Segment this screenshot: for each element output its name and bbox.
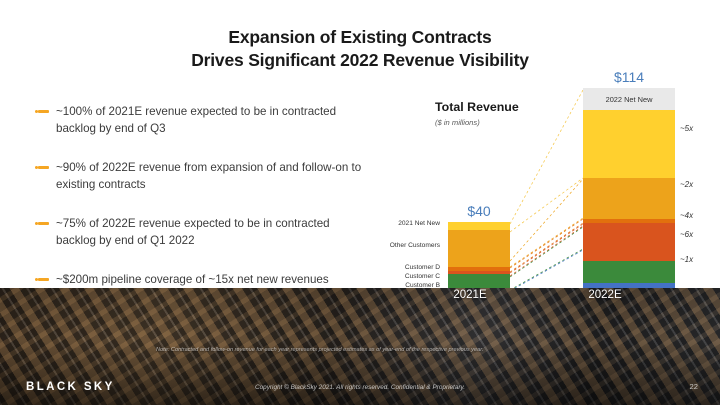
bullet-dash-icon xyxy=(38,166,49,169)
legend-label-customer-d: Customer D xyxy=(405,264,440,271)
growth-multiple-customer-b: ~1x xyxy=(680,255,720,264)
growth-multiple-labels: ~5x ~2x ~4x ~6x ~1x ~5x xyxy=(680,88,720,304)
footnote: Note: Contracted and follow-on revenue f… xyxy=(156,347,483,353)
bar-band-net-new: 2022 Net New xyxy=(583,88,675,110)
legend-label-net-new: 2021 Net New xyxy=(398,220,440,227)
bar-total-label-2021e: $40 xyxy=(440,203,518,219)
bar-segment-other-customers xyxy=(583,178,675,219)
bar-2022e: 2022 Net New xyxy=(583,88,675,304)
list-item: ~75% of 2022E revenue expected to be in … xyxy=(38,216,368,250)
bullet-dash-icon xyxy=(38,278,49,281)
axis-label-2021e: 2021E xyxy=(440,289,500,301)
list-item: ~100% of 2021E revenue expected to be in… xyxy=(38,104,368,138)
bar-band-net-new-label: 2022 Net New xyxy=(583,88,675,103)
bar-segment-net-new xyxy=(448,222,510,230)
bar-segment-customer-b xyxy=(448,274,510,288)
legend-label-other-customers: Other Customers xyxy=(390,242,440,249)
page-number: 22 xyxy=(690,382,698,391)
bullet-text: ~75% of 2022E revenue expected to be in … xyxy=(56,216,368,250)
chart-legend-labels: 2021 Net New Other Customers Customer D … xyxy=(374,66,440,306)
bullet-dash-icon xyxy=(38,110,49,113)
growth-multiple-net-new: ~5x xyxy=(680,124,720,133)
list-item: ~90% of 2022E revenue from expansion of … xyxy=(38,160,368,194)
bar-segment-customer-b xyxy=(583,261,675,283)
bar-total-label-2022e: $114 xyxy=(576,69,682,85)
bar-segment-other-customers xyxy=(448,230,510,267)
title-line-1: Expansion of Existing Contracts xyxy=(0,26,720,49)
bullet-text: ~100% of 2021E revenue expected to be in… xyxy=(56,104,368,138)
bar-segment-customer-c xyxy=(583,223,675,261)
axis-label-2022e: 2022E xyxy=(575,289,635,301)
revenue-stacked-bar-chart: Total Revenue ($ in millions) 2021 Net N… xyxy=(380,66,720,306)
bullet-text: ~90% of 2022E revenue from expansion of … xyxy=(56,160,368,194)
copyright-text: Copyright © BlackSky 2021. All rights re… xyxy=(0,384,720,391)
bullet-dash-icon xyxy=(38,222,49,225)
legend-label-customer-c: Customer C xyxy=(405,273,440,280)
bar-segment-net-new xyxy=(583,110,675,178)
growth-multiple-other-customers: ~2x xyxy=(680,180,720,189)
growth-multiple-customer-d: ~4x xyxy=(680,211,720,220)
growth-multiple-customer-c: ~6x xyxy=(680,230,720,239)
